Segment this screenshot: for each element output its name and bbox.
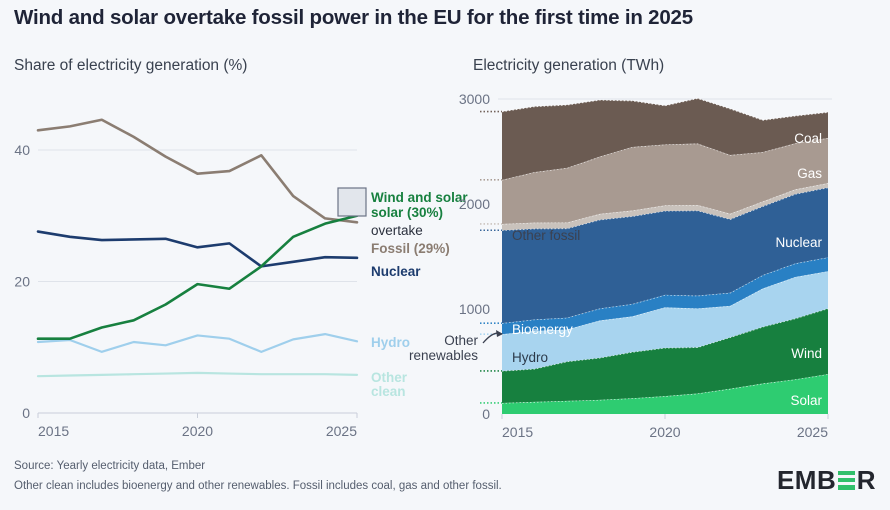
left-line-chart: 02040201520202025Wind and solarsolar (30… <box>14 120 468 439</box>
ember-logo-text-2: R <box>857 467 876 493</box>
line-series-wind-and-solar <box>38 216 357 339</box>
y-tick-label: 20 <box>14 274 30 290</box>
x-tick-label: 2025 <box>326 423 357 439</box>
x-tick-label: 2015 <box>502 424 533 440</box>
line-series-nuclear <box>38 232 357 267</box>
ember-logo-e-icon <box>838 471 855 490</box>
band-label-coal: Coal <box>794 131 822 146</box>
band-label-other-fossil: Other fossil <box>512 228 580 243</box>
right-area-chart: 0100020003000201520202025CoalGasOther fo… <box>409 91 832 440</box>
ember-logo-text-1: EMB <box>777 467 836 493</box>
line-series-fossil <box>38 120 357 223</box>
band-label-nuclear: Nuclear <box>775 235 822 250</box>
band-label-hydro: Hydro <box>512 350 548 365</box>
other-renewables-label-1: Other <box>444 333 478 348</box>
label-wind-and-solar-1: Wind and solar <box>371 190 468 205</box>
label-wind-and-solar-2: solar (30%) <box>371 205 443 220</box>
label-other-clean-2: clean <box>371 384 406 399</box>
label-nuclear: Nuclear <box>371 264 421 279</box>
other-renewables-label-2: renewables <box>409 348 478 363</box>
chart-page: Wind and solar overtake fossil power in … <box>0 0 890 510</box>
definition-note: Other clean includes bioenergy and other… <box>14 480 502 492</box>
label-overtake: overtake <box>371 223 423 238</box>
y-tick-label: 0 <box>482 406 490 422</box>
band-label-solar: Solar <box>790 393 822 408</box>
band-label-bioenergy: Bioenergy <box>512 322 573 337</box>
band-label-wind: Wind <box>791 346 822 361</box>
ember-logo: EMB R <box>777 466 876 494</box>
band-label-gas: Gas <box>797 166 822 181</box>
x-tick-label: 2015 <box>38 423 69 439</box>
y-tick-label: 3000 <box>459 91 490 107</box>
other-renewables-arrowhead-icon <box>496 330 503 337</box>
x-tick-label: 2020 <box>182 423 213 439</box>
y-tick-label: 40 <box>14 142 30 158</box>
label-other-clean-1: Other <box>371 370 408 385</box>
line-series-hydro <box>38 334 357 352</box>
line-series-other-clean <box>38 373 357 376</box>
source-note: Source: Yearly electricity data, Ember <box>14 460 205 472</box>
label-fossil: Fossil (29%) <box>371 241 450 256</box>
y-tick-label: 1000 <box>459 301 490 317</box>
label-hydro: Hydro <box>371 335 410 350</box>
charts-canvas: 02040201520202025Wind and solarsolar (30… <box>0 0 890 510</box>
y-tick-label: 0 <box>22 405 30 421</box>
x-tick-label: 2020 <box>649 424 680 440</box>
y-tick-label: 2000 <box>459 196 490 212</box>
x-tick-label: 2025 <box>797 424 828 440</box>
crossover-highlight-box <box>338 188 366 216</box>
